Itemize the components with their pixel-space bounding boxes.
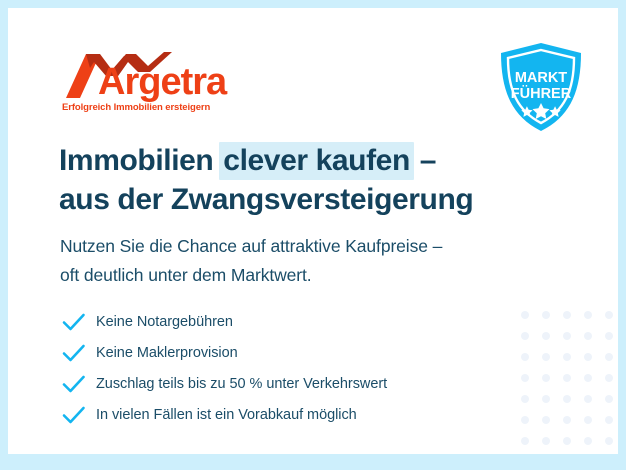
headline-highlight: clever kaufen xyxy=(219,142,414,180)
headline-line1-after: – xyxy=(412,144,436,177)
decoration-dot xyxy=(563,437,571,445)
decoration-dot xyxy=(521,374,529,382)
badge-line1: MARKT xyxy=(515,70,567,86)
list-item-label: Keine Notargebühren xyxy=(96,314,233,330)
check-icon xyxy=(61,342,87,364)
decoration-dot xyxy=(584,374,592,382)
market-leader-badge: MARKT FÜHRER xyxy=(497,41,585,133)
decoration-dot xyxy=(563,416,571,424)
page-title: Immobilien clever kaufen – aus der Zwang… xyxy=(59,141,539,219)
decoration-dot xyxy=(542,332,550,340)
decoration-dot xyxy=(563,332,571,340)
decoration-dot xyxy=(584,353,592,361)
decoration-dot xyxy=(605,311,613,319)
decoration-dot xyxy=(521,395,529,403)
decoration-dot xyxy=(542,353,550,361)
svg-text:Argetra: Argetra xyxy=(98,61,228,102)
benefits-checklist: Keine NotargebührenKeine Maklerprovision… xyxy=(61,306,521,430)
decoration-dot xyxy=(542,437,550,445)
list-item-label: In vielen Fällen ist ein Vorabkauf mögli… xyxy=(96,407,357,423)
list-item: Keine Maklerprovision xyxy=(61,337,521,368)
decoration-dot xyxy=(605,332,613,340)
subheading: Nutzen Sie die Chance auf attraktive Kau… xyxy=(60,232,560,290)
decoration-dot xyxy=(584,311,592,319)
decoration-dot xyxy=(542,395,550,403)
decoration-dot xyxy=(521,353,529,361)
promo-card: Argetra Erfolgreich Immobilien ersteiger… xyxy=(8,8,618,454)
list-item: In vielen Fällen ist ein Vorabkauf mögli… xyxy=(61,399,521,430)
check-icon xyxy=(61,373,87,395)
decoration-dot xyxy=(584,395,592,403)
argetra-roof-a-icon: Argetra xyxy=(60,50,260,102)
list-item: Keine Notargebühren xyxy=(61,306,521,337)
badge-line2: FÜHRER xyxy=(511,85,572,102)
decoration-dot xyxy=(584,437,592,445)
subheading-line1: Nutzen Sie die Chance auf attraktive Kau… xyxy=(60,236,442,256)
decoration-dot xyxy=(584,416,592,424)
decoration-dot xyxy=(605,395,613,403)
decoration-dot xyxy=(521,311,529,319)
decoration-dot xyxy=(605,353,613,361)
dot-grid-decoration xyxy=(521,311,618,454)
headline-line2: aus der Zwangsversteigerung xyxy=(59,183,473,216)
subheading-line2: oft deutlich unter dem Marktwert. xyxy=(60,265,312,285)
decoration-dot xyxy=(521,437,529,445)
decoration-dot xyxy=(542,374,550,382)
list-item: Zuschlag teils bis zu 50 % unter Verkehr… xyxy=(61,368,521,399)
decoration-dot xyxy=(563,395,571,403)
check-icon xyxy=(61,311,87,333)
decoration-dot xyxy=(605,416,613,424)
decoration-dot xyxy=(563,374,571,382)
decoration-dot xyxy=(542,416,550,424)
decoration-dot xyxy=(521,416,529,424)
decoration-dot xyxy=(563,311,571,319)
headline-line1-before: Immobilien xyxy=(59,144,221,177)
logo-tagline: Erfolgreich Immobilien ersteigern xyxy=(62,102,210,113)
list-item-label: Keine Maklerprovision xyxy=(96,345,238,361)
check-icon xyxy=(61,404,87,426)
decoration-dot xyxy=(521,332,529,340)
decoration-dot xyxy=(563,353,571,361)
decoration-dot xyxy=(605,374,613,382)
decoration-dot xyxy=(605,437,613,445)
argetra-logo[interactable]: Argetra Erfolgreich Immobilien ersteiger… xyxy=(60,50,260,118)
decoration-dot xyxy=(584,332,592,340)
list-item-label: Zuschlag teils bis zu 50 % unter Verkehr… xyxy=(96,376,387,392)
decoration-dot xyxy=(542,311,550,319)
